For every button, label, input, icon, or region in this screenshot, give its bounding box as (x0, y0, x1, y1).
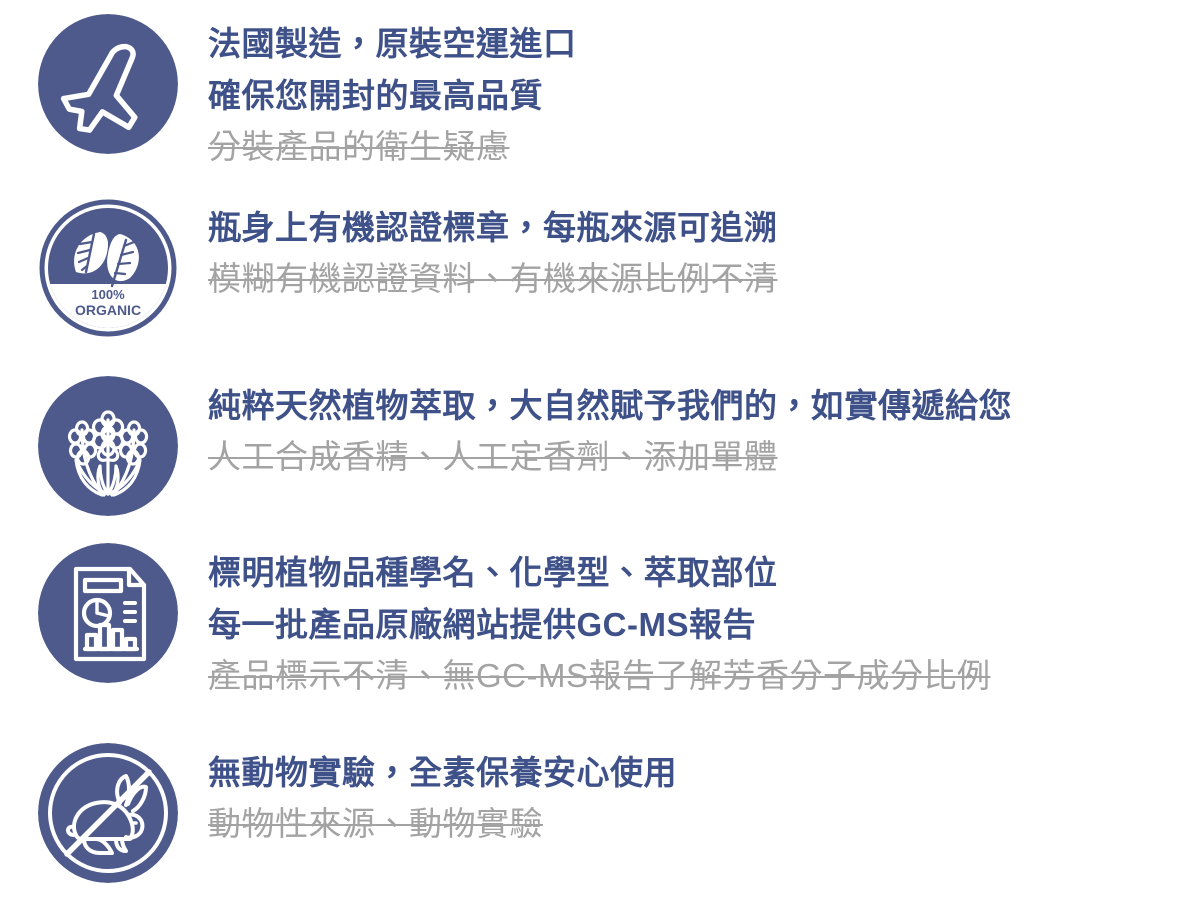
lavender-plant-icon (38, 376, 178, 516)
feature-headline: 標明植物品種學名、化學型、萃取部位 (208, 547, 991, 599)
organic-word-text: ORGANIC (75, 302, 141, 318)
feature-row: 標明植物品種學名、化學型、萃取部位 每一批產品原廠網站提供GC-MS報告 產品標… (0, 543, 1200, 701)
report-document-icon (38, 543, 178, 683)
feature-icon-cell (0, 14, 208, 154)
feature-struck-text: 產品標示不清、無GC-MS報告了解芳香分子成分比例 (208, 651, 991, 701)
feature-headline: 每一批產品原廠網站提供GC-MS報告 (208, 599, 991, 651)
feature-headline: 確保您開封的最高品質 (208, 70, 577, 122)
feature-struck-text: 人工合成香精、人工定香劑、添加單體 (208, 432, 1012, 482)
feature-headline: 法國製造，原裝空運進口 (208, 18, 577, 70)
feature-row: 法國製造，原裝空運進口 確保您開封的最高品質 分裝產品的衛生疑慮 (0, 14, 1200, 172)
feature-icon-cell (0, 743, 208, 883)
organic-percent-text: 100% (91, 287, 125, 302)
feature-list-board: 法國製造，原裝空運進口 確保您開封的最高品質 分裝產品的衛生疑慮 (0, 0, 1200, 898)
feature-headline: 純粹天然植物萃取，大自然賦予我們的，如實傳遞給您 (208, 380, 1012, 432)
airplane-icon (38, 14, 178, 154)
feature-text-cell: 無動物實驗，全素保養安心使用 動物性來源、動物實驗 (208, 743, 677, 849)
feature-text-cell: 法國製造，原裝空運進口 確保您開封的最高品質 分裝產品的衛生疑慮 (208, 14, 577, 172)
feature-row: 無動物實驗，全素保養安心使用 動物性來源、動物實驗 (0, 743, 1200, 883)
no-animal-testing-icon (38, 743, 178, 883)
feature-struck-text: 模糊有機認證資料、有機來源比例不清 (208, 254, 778, 304)
feature-row: 100% ORGANIC 瓶身上有機認證標章，每瓶來源可追溯 模糊有機認證資料、… (0, 198, 1200, 338)
feature-text-cell: 瓶身上有機認證標章，每瓶來源可追溯 模糊有機認證資料、有機來源比例不清 (208, 198, 778, 304)
feature-text-cell: 標明植物品種學名、化學型、萃取部位 每一批產品原廠網站提供GC-MS報告 產品標… (208, 543, 991, 701)
organic-badge-icon: 100% ORGANIC (38, 198, 178, 338)
feature-icon-cell (0, 376, 208, 516)
feature-icon-cell: 100% ORGANIC (0, 198, 208, 338)
feature-row: 純粹天然植物萃取，大自然賦予我們的，如實傳遞給您 人工合成香精、人工定香劑、添加… (0, 376, 1200, 516)
feature-headline: 無動物實驗，全素保養安心使用 (208, 747, 677, 799)
feature-icon-cell (0, 543, 208, 683)
feature-struck-text: 分裝產品的衛生疑慮 (208, 122, 577, 172)
feature-text-cell: 純粹天然植物萃取，大自然賦予我們的，如實傳遞給您 人工合成香精、人工定香劑、添加… (208, 376, 1012, 482)
feature-struck-text: 動物性來源、動物實驗 (208, 799, 677, 849)
feature-headline: 瓶身上有機認證標章，每瓶來源可追溯 (208, 202, 778, 254)
